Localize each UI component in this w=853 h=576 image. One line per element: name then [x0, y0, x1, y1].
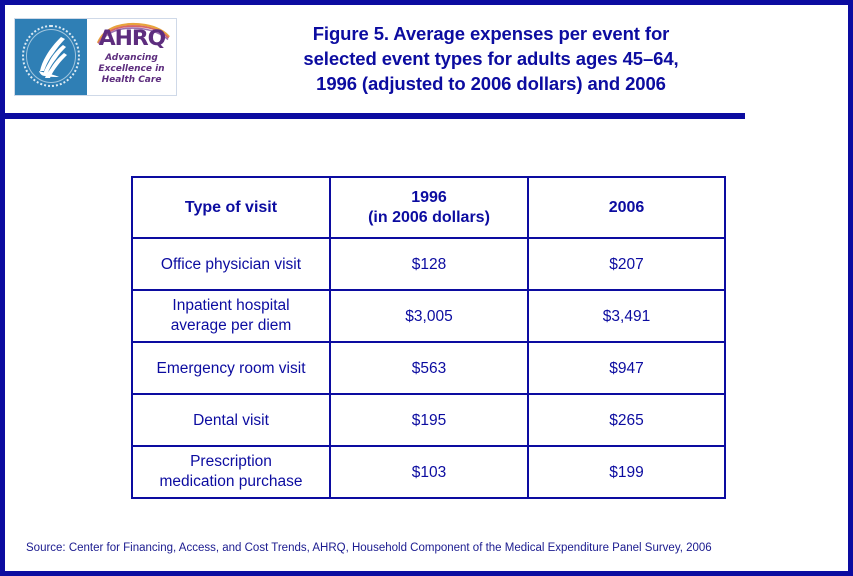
row-label-line1: Emergency room visit	[137, 359, 325, 378]
column-header-2006: 2006	[528, 177, 725, 238]
source-note: Source: Center for Financing, Access, an…	[26, 541, 712, 555]
row-label-inpatient-hospital: Inpatient hospital average per diem	[132, 290, 330, 342]
column-header-type-of-visit: Type of visit	[132, 177, 330, 238]
table-row: Emergency room visit $563 $947	[132, 342, 725, 394]
table-header-row: Type of visit 1996 (in 2006 dollars) 200…	[132, 177, 725, 238]
ahrq-letters: AHRQ	[98, 28, 164, 49]
row-label-line1: Dental visit	[137, 411, 325, 430]
value-1996-dental-visit: $195	[330, 394, 528, 446]
value-1996-emergency-room-visit: $563	[330, 342, 528, 394]
value-2006-inpatient-hospital: $3,491	[528, 290, 725, 342]
value-1996-prescription-medication-purchase: $103	[330, 446, 528, 498]
hhs-eagle-icon	[28, 31, 76, 83]
figure-title-line2: selected event types for adults ages 45–…	[191, 46, 791, 71]
row-label-line2: average per diem	[137, 316, 325, 336]
row-label-emergency-room-visit: Emergency room visit	[132, 342, 330, 394]
ahrq-tagline-line1: Advancing	[98, 53, 164, 64]
table-row: Office physician visit $128 $207	[132, 238, 725, 290]
row-label-line2: medication purchase	[137, 472, 325, 492]
row-label-line1: Office physician visit	[137, 255, 325, 274]
row-label-line1: Prescription	[137, 452, 325, 472]
row-label-prescription-medication-purchase: Prescription medication purchase	[132, 446, 330, 498]
column-header-1996-line2: (in 2006 dollars)	[335, 208, 523, 228]
row-label-dental-visit: Dental visit	[132, 394, 330, 446]
figure-title-line1: Figure 5. Average expenses per event for	[191, 21, 791, 46]
value-2006-prescription-medication-purchase: $199	[528, 446, 725, 498]
ahrq-tagline-line3: Health Care	[98, 75, 164, 86]
header-divider-bar	[5, 113, 745, 119]
ahrq-tagline: Advancing Excellence in Health Care	[98, 53, 164, 86]
hhs-seal-icon	[15, 19, 87, 95]
column-header-1996-line1: 1996	[335, 188, 523, 208]
column-header-1996: 1996 (in 2006 dollars)	[330, 177, 528, 238]
figure-title: Figure 5. Average expenses per event for…	[191, 21, 791, 96]
figure-slide: AHRQ Advancing Excellence in Health Care…	[0, 0, 853, 576]
agency-logo: AHRQ Advancing Excellence in Health Care	[14, 18, 177, 96]
row-label-line1: Inpatient hospital	[137, 296, 325, 316]
table-row: Inpatient hospital average per diem $3,0…	[132, 290, 725, 342]
value-1996-office-physician-visit: $128	[330, 238, 528, 290]
value-2006-dental-visit: $265	[528, 394, 725, 446]
ahrq-tagline-line2: Excellence in	[98, 64, 164, 75]
table-row: Dental visit $195 $265	[132, 394, 725, 446]
table-row: Prescription medication purchase $103 $1…	[132, 446, 725, 498]
value-2006-office-physician-visit: $207	[528, 238, 725, 290]
value-2006-emergency-room-visit: $947	[528, 342, 725, 394]
row-label-office-physician-visit: Office physician visit	[132, 238, 330, 290]
data-table-container: Type of visit 1996 (in 2006 dollars) 200…	[131, 176, 726, 499]
expenses-table: Type of visit 1996 (in 2006 dollars) 200…	[131, 176, 726, 499]
figure-title-line3: 1996 (adjusted to 2006 dollars) and 2006	[191, 71, 791, 96]
ahrq-wordmark: AHRQ Advancing Excellence in Health Care	[87, 19, 176, 95]
slide-header: AHRQ Advancing Excellence in Health Care…	[5, 5, 848, 108]
value-1996-inpatient-hospital: $3,005	[330, 290, 528, 342]
